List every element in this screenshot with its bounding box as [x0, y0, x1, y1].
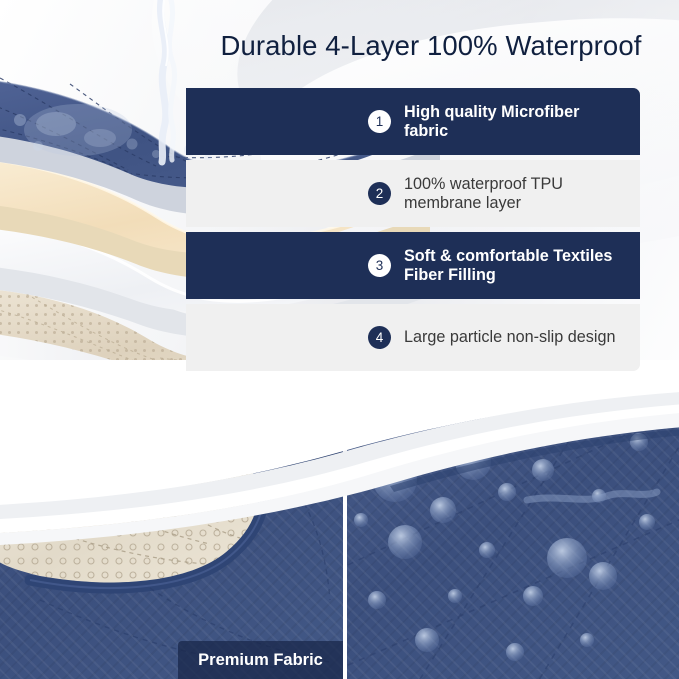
- feature-label-1: High quality Microfiber fabric: [404, 103, 619, 139]
- photo-premium-fabric: Premium Fabric: [0, 400, 343, 679]
- water-droplets: [354, 433, 657, 661]
- feature-label-2: 100% waterproof TPU membrane layer: [404, 175, 619, 211]
- feature-row-3[interactable]: 3 Soft & comfortable Textiles Fiber Fill…: [186, 232, 640, 299]
- feature-row-1[interactable]: 1 High quality Microfiber fabric: [186, 88, 640, 155]
- feature-badge-1: 1: [368, 110, 391, 133]
- bottom-photo-row: Premium Fabric: [0, 400, 679, 679]
- photo-one-hour-later: One hour later: [347, 400, 679, 679]
- caption-premium-fabric-label: Premium Fabric: [198, 651, 323, 670]
- feature-row-4[interactable]: 4 Large particle non-slip design: [186, 304, 640, 371]
- feature-list: 1 High quality Microfiber fabric 2 100% …: [0, 88, 679, 380]
- feature-badge-2: 2: [368, 182, 391, 205]
- feature-row-2[interactable]: 2 100% waterproof TPU membrane layer: [186, 160, 640, 227]
- caption-premium-fabric: Premium Fabric: [178, 641, 343, 679]
- page-title: Durable 4-Layer 100% Waterproof: [196, 30, 666, 62]
- feature-badge-4: 4: [368, 326, 391, 349]
- feature-badge-3: 3: [368, 254, 391, 277]
- feature-label-4: Large particle non-slip design: [404, 328, 615, 346]
- feature-label-3: Soft & comfortable Textiles Fiber Fillin…: [404, 247, 619, 283]
- product-infographic: Premium Fabric: [0, 0, 679, 679]
